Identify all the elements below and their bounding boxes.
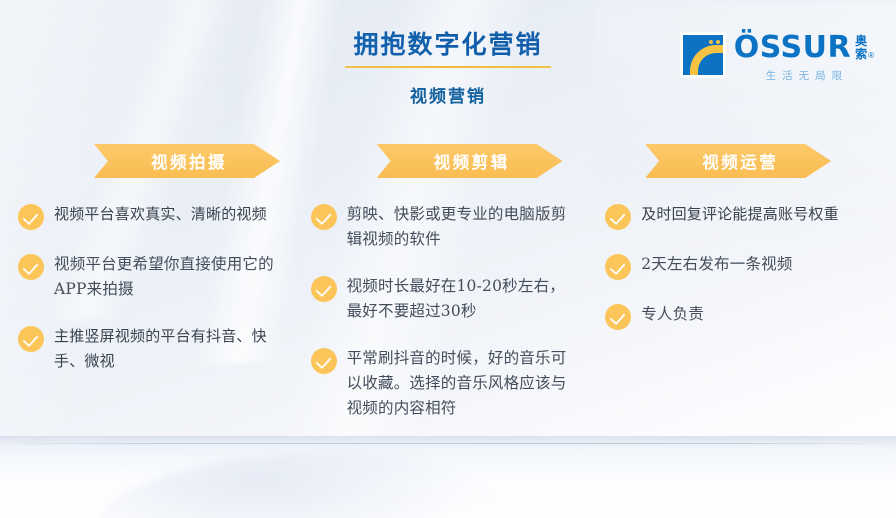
list-item: 及时回复评论能提高账号权重 xyxy=(605,202,896,230)
check-circle-icon xyxy=(605,304,631,330)
column-banner: 视频剪辑 xyxy=(377,144,563,178)
title-underline xyxy=(345,66,551,68)
column-video-editing: 视频剪辑 剪映、快影或更专业的电脑版剪辑视频的软件 视频时长最好在10-20秒左… xyxy=(299,144,598,443)
logo-wordmark-row: ÖSSUR 奥 索 ® xyxy=(734,33,874,63)
bullet-list: 及时回复评论能提高账号权重 2天左右发布一条视频 专人负责 xyxy=(605,200,896,330)
column-banner: 视频拍摄 xyxy=(94,144,280,178)
list-item: 2天左右发布一条视频 xyxy=(605,252,896,280)
list-item: 专人负责 xyxy=(605,302,896,330)
list-item-text: 视频平台喜欢真实、清晰的视频 xyxy=(54,202,267,227)
logo-arc-shape xyxy=(690,45,725,77)
bullet-list: 剪映、快影或更专业的电脑版剪辑视频的软件 视频时长最好在10-20秒左右，最好不… xyxy=(311,200,598,421)
list-item: 视频时长最好在10-20秒左右，最好不要超过30秒 xyxy=(311,274,598,324)
check-circle-icon xyxy=(605,204,631,230)
list-item-text: 视频时长最好在10-20秒左右，最好不要超过30秒 xyxy=(347,274,571,324)
logo-dot-icon xyxy=(716,40,720,44)
logo-wordmark: ÖSSUR xyxy=(734,33,851,63)
list-item-text: 剪映、快影或更专业的电脑版剪辑视频的软件 xyxy=(347,202,571,252)
logo-text-block: ÖSSUR 奥 索 ® 生活无局限 xyxy=(734,33,874,83)
check-circle-icon xyxy=(18,254,44,280)
logo-dot-icon xyxy=(709,40,713,44)
check-circle-icon xyxy=(311,276,337,302)
list-item-text: 及时回复评论能提高账号权重 xyxy=(641,202,839,227)
logo-chinese-name: 奥 索 xyxy=(855,35,867,63)
list-item-text: 平常刷抖音的时候，好的音乐可以收藏。选择的音乐风格应该与视频的内容相符 xyxy=(347,346,571,421)
check-circle-icon xyxy=(18,204,44,230)
list-item: 主推竖屏视频的平台有抖音、快手、微视 xyxy=(18,324,299,374)
list-item: 视频平台喜欢真实、清晰的视频 xyxy=(18,202,299,230)
list-item: 剪映、快影或更专业的电脑版剪辑视频的软件 xyxy=(311,202,598,252)
list-item-text: 主推竖屏视频的平台有抖音、快手、微视 xyxy=(54,324,286,374)
list-item-text: 2天左右发布一条视频 xyxy=(641,252,792,277)
check-circle-icon xyxy=(311,348,337,374)
check-circle-icon xyxy=(605,254,631,280)
column-banner-label: 视频剪辑 xyxy=(377,144,563,178)
background-horizon-line xyxy=(0,443,896,444)
brand-logo: ÖSSUR 奥 索 ® 生活无局限 xyxy=(681,33,874,83)
bullet-list: 视频平台喜欢真实、清晰的视频 视频平台更希望你直接使用它的APP来拍摄 主推竖屏… xyxy=(18,200,299,374)
ossur-logo-mark-icon xyxy=(681,33,725,77)
list-item-text: 视频平台更希望你直接使用它的APP来拍摄 xyxy=(54,252,286,302)
check-circle-icon xyxy=(311,204,337,230)
list-item: 视频平台更希望你直接使用它的APP来拍摄 xyxy=(18,252,299,302)
column-video-operations: 视频运营 及时回复评论能提高账号权重 2天左右发布一条视频 专人负责 xyxy=(597,144,896,443)
column-video-shooting: 视频拍摄 视频平台喜欢真实、清晰的视频 视频平台更希望你直接使用它的APP来拍摄… xyxy=(0,144,299,443)
column-banner-label: 视频运营 xyxy=(645,144,831,178)
page-subtitle: 视频营销 xyxy=(0,82,896,107)
slide-canvas: 拥抱数字化营销 视频营销 ÖSSUR 奥 索 ® 生活无局限 xyxy=(0,0,896,518)
logo-tagline: 生活无局限 xyxy=(760,68,849,83)
column-banner-label: 视频拍摄 xyxy=(94,144,280,178)
registered-mark-icon: ® xyxy=(868,51,874,63)
column-banner: 视频运营 xyxy=(645,144,831,178)
list-item: 平常刷抖音的时候，好的音乐可以收藏。选择的音乐风格应该与视频的内容相符 xyxy=(311,346,598,421)
list-item-text: 专人负责 xyxy=(641,302,704,327)
content-columns: 视频拍摄 视频平台喜欢真实、清晰的视频 视频平台更希望你直接使用它的APP来拍摄… xyxy=(0,144,896,443)
logo-cn-char-2: 索 xyxy=(855,48,867,61)
check-circle-icon xyxy=(18,326,44,352)
